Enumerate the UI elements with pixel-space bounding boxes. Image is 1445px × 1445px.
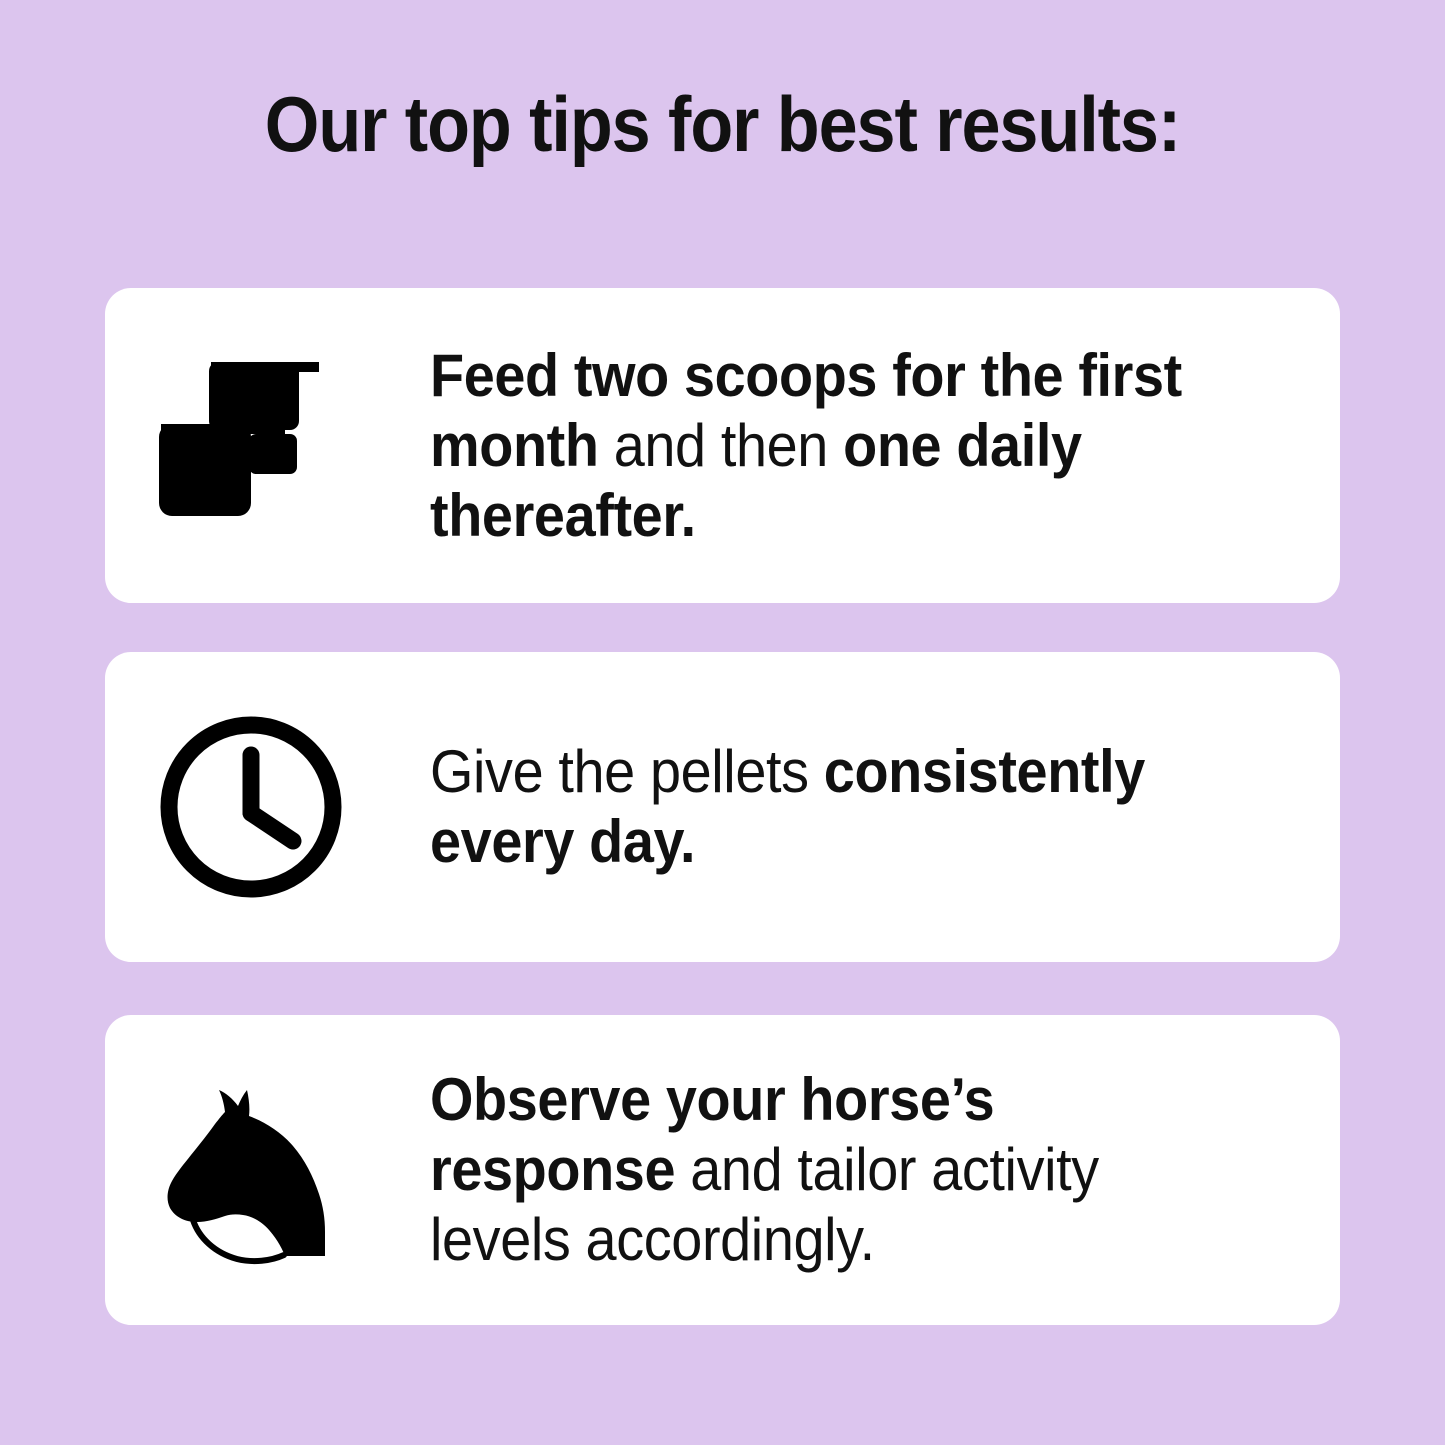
horse-head-icon bbox=[153, 1070, 353, 1270]
tip-card-feeding: Feed two scoops for the first month and … bbox=[105, 288, 1340, 603]
tip-card-consistency: Give the pellets consistently every day. bbox=[105, 652, 1340, 962]
tip-text-cell: Feed two scoops for the first month and … bbox=[430, 341, 1340, 551]
tip-text-consistency: Give the pellets consistently every day. bbox=[430, 737, 1254, 877]
tip-text-cell: Observe your horse’s response and tailor… bbox=[430, 1065, 1340, 1275]
two-scoops-icon bbox=[153, 346, 368, 546]
tip-icon-cell bbox=[105, 288, 430, 603]
clock-icon bbox=[153, 709, 349, 905]
page-title: Our top tips for best results: bbox=[72, 76, 1373, 172]
tip-icon-cell bbox=[105, 1015, 430, 1325]
tips-graphic: Our top tips for best results: bbox=[0, 0, 1445, 1445]
tips-list: Feed two scoops for the first month and … bbox=[105, 288, 1340, 1325]
tip-icon-cell bbox=[105, 652, 430, 962]
tip-text-feeding: Feed two scoops for the first month and … bbox=[430, 341, 1254, 551]
tip-text-cell: Give the pellets consistently every day. bbox=[430, 737, 1340, 877]
tip-card-observation: Observe your horse’s response and tailor… bbox=[105, 1015, 1340, 1325]
tip-text-observation: Observe your horse’s response and tailor… bbox=[430, 1065, 1254, 1275]
